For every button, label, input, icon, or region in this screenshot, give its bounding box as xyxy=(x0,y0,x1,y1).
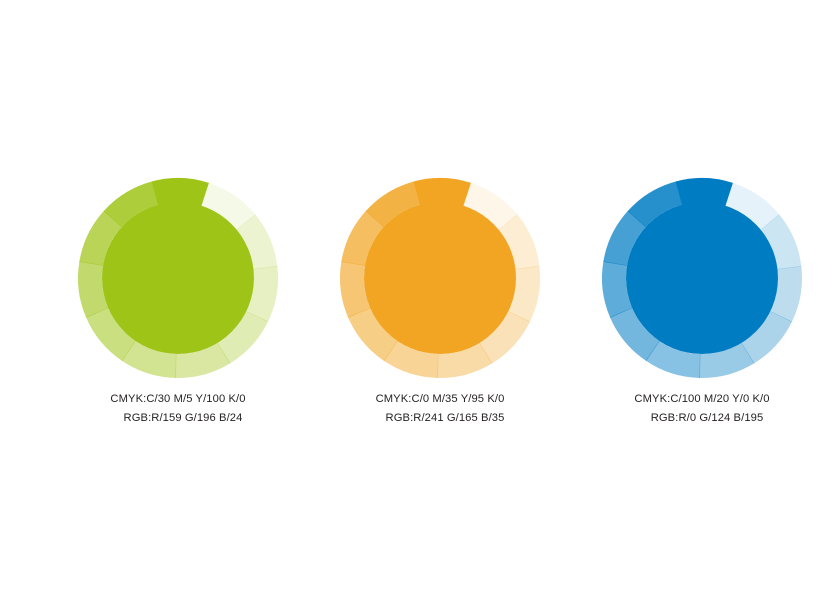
color-wheel-blue xyxy=(602,178,802,378)
rgb-value-label: RGB:R/0 G/124 B/195 xyxy=(571,409,833,428)
swatch-caption-blue: CMYK:C/100 M/20 Y/0 K/0RGB:R/0 G/124 B/1… xyxy=(571,390,833,428)
cmyk-value-label: CMYK:C/0 M/35 Y/95 K/0 xyxy=(309,390,571,409)
color-swatch-green: CMYK:C/30 M/5 Y/100 K/0RGB:R/159 G/196 B… xyxy=(47,178,309,438)
swatch-caption-green: CMYK:C/30 M/5 Y/100 K/0RGB:R/159 G/196 B… xyxy=(47,390,309,428)
rgb-value-label: RGB:R/241 G/165 B/35 xyxy=(309,409,571,428)
color-wheel-green xyxy=(78,178,278,378)
color-wheel-graphic xyxy=(78,178,278,378)
cmyk-value-label: CMYK:C/100 M/20 Y/0 K/0 xyxy=(571,390,833,409)
palette-board: CMYK:C/30 M/5 Y/100 K/0RGB:R/159 G/196 B… xyxy=(0,0,838,597)
color-swatch-blue: CMYK:C/100 M/20 Y/0 K/0RGB:R/0 G/124 B/1… xyxy=(571,178,833,438)
color-wheel-orange xyxy=(340,178,540,378)
rgb-value-label: RGB:R/159 G/196 B/24 xyxy=(47,409,309,428)
color-wheel-graphic xyxy=(340,178,540,378)
cmyk-value-label: CMYK:C/30 M/5 Y/100 K/0 xyxy=(47,390,309,409)
color-swatch-orange: CMYK:C/0 M/35 Y/95 K/0RGB:R/241 G/165 B/… xyxy=(309,178,571,438)
swatch-caption-orange: CMYK:C/0 M/35 Y/95 K/0RGB:R/241 G/165 B/… xyxy=(309,390,571,428)
color-wheel-graphic xyxy=(602,178,802,378)
